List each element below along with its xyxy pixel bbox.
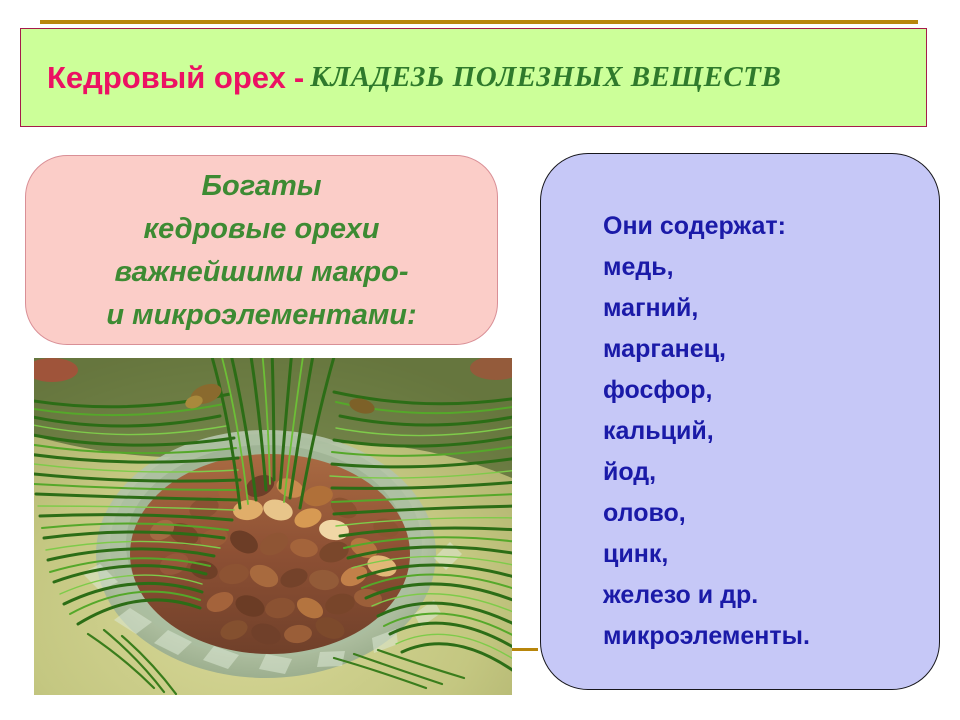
element-item-phosphorus: фосфор, (603, 370, 939, 411)
pine-nuts-illustration (34, 358, 512, 695)
element-item-microelements: микроэлементы. (603, 616, 939, 657)
page-title: Кедровый орех (47, 60, 286, 96)
pink-panel-line-1: Богаты (201, 165, 321, 208)
element-item-manganese: марганец, (603, 329, 939, 370)
element-item-iron: железо и др. (603, 575, 939, 616)
title-separator: - (294, 60, 304, 96)
pink-panel-line-4: и микроэлементами: (106, 294, 416, 337)
pink-panel-line-2: кедровые орехи (143, 208, 379, 251)
element-item-tin: олово, (603, 493, 939, 534)
element-item-magnesium: магний, (603, 288, 939, 329)
element-item-zinc: цинк, (603, 534, 939, 575)
title-banner: Кедровый орех - КЛАДЕЗЬ ПОЛЕЗНЫХ ВЕЩЕСТВ (20, 28, 927, 127)
element-item-calcium: кальций, (603, 411, 939, 452)
macro-micro-elements-panel: Богаты кедровые орехи важнейшими макро- … (25, 155, 498, 345)
contains-elements-panel: Они содержат: медь, магний, марганец, фо… (540, 153, 940, 690)
blue-panel-heading: Они содержат: (603, 206, 939, 247)
pink-panel-line-3: важнейшими макро- (114, 251, 408, 294)
top-gold-rule (40, 20, 918, 24)
element-item-iodine: йод, (603, 452, 939, 493)
pine-nuts-photo (34, 358, 512, 695)
element-item-copper: медь, (603, 247, 939, 288)
page-subtitle: КЛАДЕЗЬ ПОЛЕЗНЫХ ВЕЩЕСТВ (310, 61, 781, 94)
